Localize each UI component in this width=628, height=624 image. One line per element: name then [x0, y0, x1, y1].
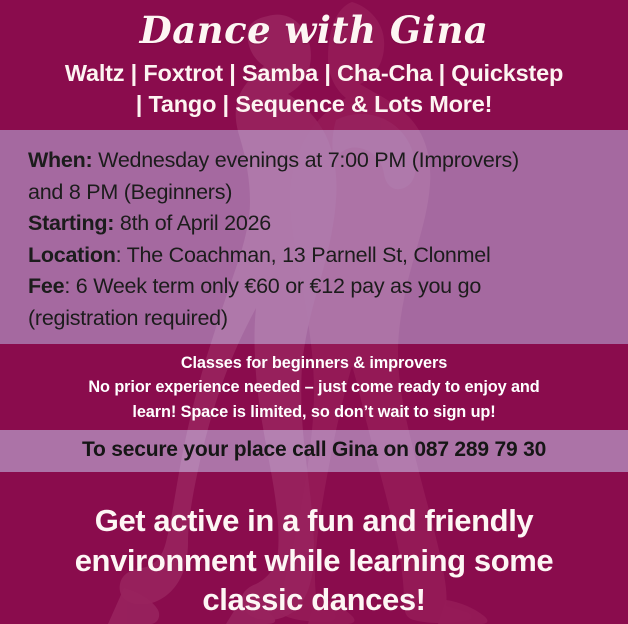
classes-line-2: No prior experience needed – just come r…	[20, 375, 608, 399]
detail-row-location: Location: The Coachman, 13 Parnell St, C…	[28, 240, 602, 272]
detail-row-starting: Starting: 8th of April 2026	[28, 208, 602, 240]
starting-value: 8th of April 2026	[114, 211, 271, 235]
detail-row-fee: Fee: 6 Week term only €60 or €12 pay as …	[28, 271, 602, 303]
classes-line-3: learn! Space is limited, so don’t wait t…	[20, 400, 608, 424]
fee-value: : 6 Week term only €60 or €12 pay as you…	[64, 274, 481, 298]
classes-line-1: Classes for beginners & improvers	[20, 351, 608, 375]
phone-cta-text[interactable]: To secure your place call Gina on 087 28…	[10, 438, 618, 462]
dance-class-poster: Dance with Gina Waltz | Foxtrot | Samba …	[0, 0, 628, 624]
phone-cta-section: To secure your place call Gina on 087 28…	[0, 430, 628, 472]
fee-label: Fee	[28, 274, 64, 298]
when-value-continued: and 8 PM (Beginners)	[28, 180, 232, 204]
classes-blurb-section: Classes for beginners & improvers No pri…	[0, 344, 628, 430]
location-label: Location	[28, 243, 116, 267]
detail-row-fee-cont: (registration required)	[28, 303, 602, 335]
poster-title: Dance with Gina	[8, 12, 620, 49]
fee-value-continued: (registration required)	[28, 306, 228, 330]
footer-tagline: Get active in a fun and friendly environ…	[22, 501, 606, 620]
dance-styles-line-2: | Tango | Sequence & Lots More!	[8, 89, 620, 120]
details-section: When: Wednesday evenings at 7:00 PM (Imp…	[0, 130, 628, 344]
starting-label: Starting:	[28, 211, 114, 235]
detail-row-when-cont: and 8 PM (Beginners)	[28, 177, 602, 209]
header-section: Dance with Gina Waltz | Foxtrot | Samba …	[0, 0, 628, 130]
when-label: When:	[28, 148, 92, 172]
dance-styles-line-1: Waltz | Foxtrot | Samba | Cha-Cha | Quic…	[8, 58, 620, 89]
detail-row-when: When: Wednesday evenings at 7:00 PM (Imp…	[28, 145, 602, 177]
footer-section: Get active in a fun and friendly environ…	[0, 472, 628, 624]
location-value: : The Coachman, 13 Parnell St, Clonmel	[116, 243, 491, 267]
when-value: Wednesday evenings at 7:00 PM (Improvers…	[92, 148, 518, 172]
